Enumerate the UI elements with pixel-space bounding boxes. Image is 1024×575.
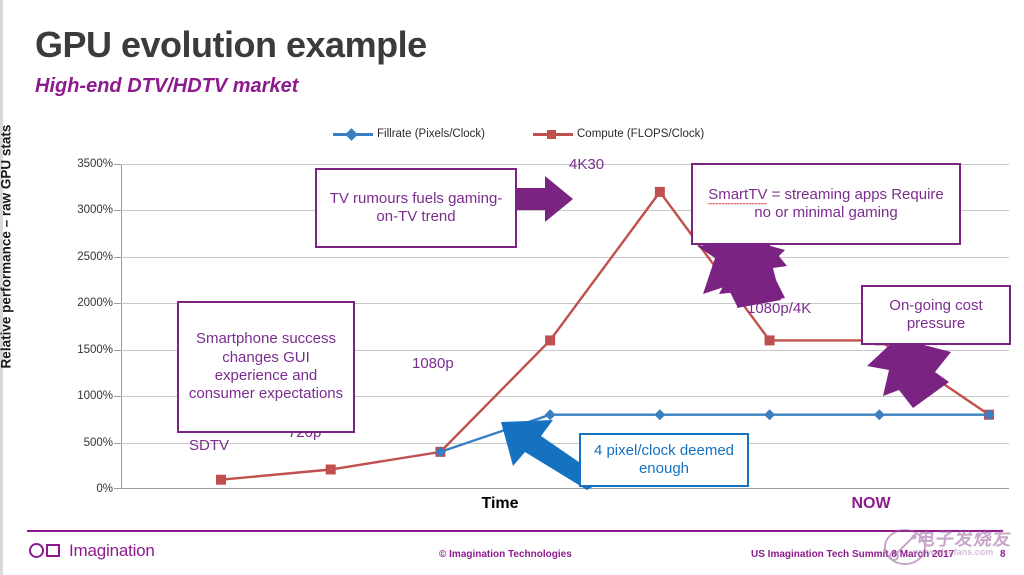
data-point — [654, 409, 665, 420]
callout-smarttv-text: SmartTV = streaming apps Require no or m… — [699, 186, 953, 223]
page-title: GPU evolution example — [35, 24, 427, 66]
y-tick-500: 500% — [84, 437, 113, 449]
y-axis-tick-labels: 3500% 3000% 2500% 2000% 1500% 1000% 500%… — [55, 164, 113, 489]
callout-smartphone: Smartphone success changes GUI experienc… — [177, 301, 355, 433]
y-tick-mark-1000 — [114, 396, 121, 397]
footer-copyright: © Imagination Technologies — [439, 549, 572, 560]
callout-smartphone-text: Smartphone success changes GUI experienc… — [185, 330, 347, 403]
y-tick-mark-0 — [114, 488, 121, 489]
data-point — [545, 335, 555, 345]
data-point — [764, 409, 775, 420]
y-tick-2500: 2500% — [77, 251, 113, 263]
imagination-logo-mark-icon — [29, 543, 65, 560]
y-tick-1000: 1000% — [77, 390, 113, 402]
watermark-logo-icon — [883, 527, 927, 567]
point-label-1080p: 1080p — [412, 355, 454, 372]
point-label-sdtv: SDTV — [189, 437, 229, 454]
legend-marker-diamond-icon — [333, 129, 373, 139]
arrow-tv-rumours-icon — [511, 176, 573, 228]
y-tick-3500: 3500% — [77, 158, 113, 170]
chart-legend: Fillrate (Pixels/Clock) Compute (FLOPS/C… — [333, 128, 704, 140]
callout-tv-rumours-text: TV rumours fuels gaming-on-TV trend — [323, 190, 509, 227]
x-axis-caption-now: NOW — [851, 495, 890, 513]
callout-cost-pressure: On-going cost pressure — [861, 285, 1011, 345]
legend-label-fillrate: Fillrate (Pixels/Clock) — [377, 128, 485, 140]
arrow-smarttv-shape-icon — [703, 244, 795, 310]
data-point — [765, 335, 775, 345]
y-tick-mark-1500 — [114, 350, 121, 351]
callout-smarttv: SmartTV = streaming apps Require no or m… — [691, 163, 961, 245]
callout-smarttv-keyword: SmartTV — [708, 186, 767, 203]
footer-page-number: 8 — [1000, 549, 1006, 560]
callout-pixel-clock-text: 4 pixel/clock deemed enough — [587, 442, 741, 479]
footer-divider — [27, 530, 1003, 532]
data-point — [216, 475, 226, 485]
y-tick-3000: 3000% — [77, 204, 113, 216]
data-point — [655, 187, 665, 197]
legend-label-compute: Compute (FLOPS/Clock) — [577, 128, 704, 140]
y-tick-2000: 2000% — [77, 297, 113, 309]
callout-tv-rumours: TV rumours fuels gaming-on-TV trend — [315, 168, 517, 248]
y-tick-mark-500 — [114, 443, 121, 444]
callout-cost-pressure-text: On-going cost pressure — [869, 297, 1003, 334]
footer-summit: US Imagination Tech Summit 8 March 2017 — [751, 549, 954, 560]
watermark-chinese-text: 电子发烧友 — [916, 525, 1014, 551]
imagination-logo-text: Imagination — [69, 541, 155, 561]
point-label-4k30: 4K30 — [569, 156, 604, 173]
data-point — [874, 409, 885, 420]
y-axis-title: Relative performance – raw GPU stats — [0, 37, 14, 457]
page-subtitle: High-end DTV/HDTV market — [35, 75, 298, 98]
callout-smarttv-rest: = streaming apps Require no or minimal g… — [754, 186, 943, 221]
y-tick-mark-2000 — [114, 303, 121, 304]
callout-pixel-clock: 4 pixel/clock deemed enough — [579, 433, 749, 487]
y-tick-0: 0% — [96, 483, 113, 495]
y-tick-1500: 1500% — [77, 344, 113, 356]
x-axis-caption-time: Time — [481, 495, 518, 513]
arrow-cost-pressure-icon — [865, 338, 951, 408]
imagination-logo: Imagination — [29, 541, 155, 561]
data-point — [326, 465, 336, 475]
legend-marker-square-icon — [533, 129, 573, 139]
y-tick-mark-2500 — [114, 257, 121, 258]
legend-item-compute: Compute (FLOPS/Clock) — [533, 128, 704, 140]
legend-item-fillrate: Fillrate (Pixels/Clock) — [333, 128, 485, 140]
slide-canvas: GPU evolution example High-end DTV/HDTV … — [0, 0, 1024, 575]
y-tick-mark-3000 — [114, 210, 121, 211]
y-tick-mark-3500 — [114, 164, 121, 165]
